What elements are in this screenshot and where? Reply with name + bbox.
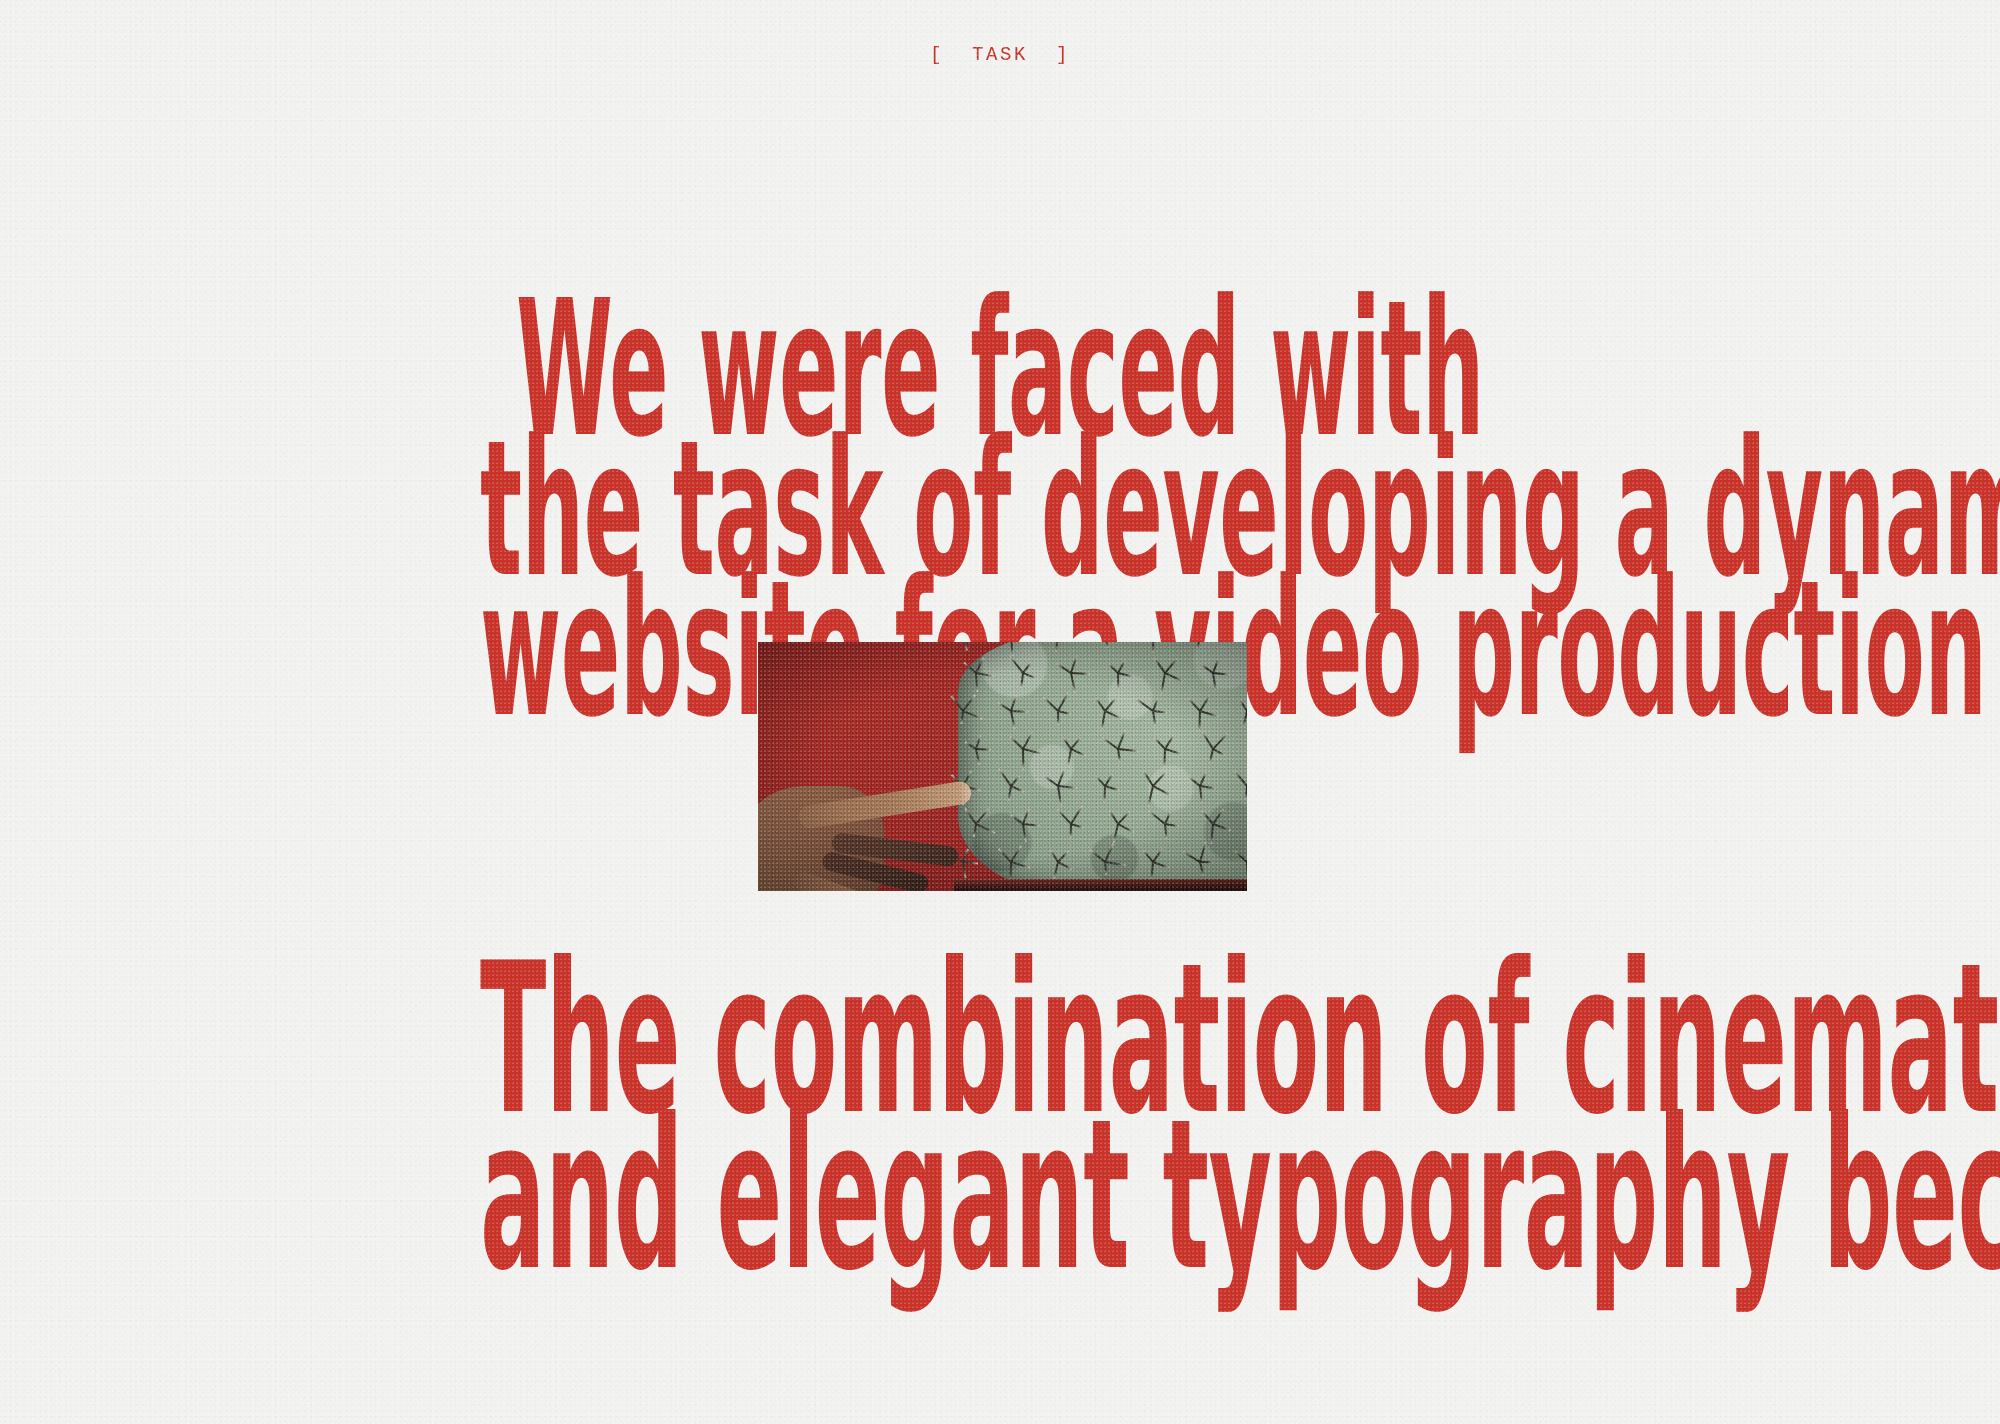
task-section-page: [ TASK ] We were faced with the task of … (0, 0, 2000, 1424)
headline-bottom-line-2: and elegant typography became the main f… (480, 1092, 1520, 1300)
photo-canvas (758, 642, 1247, 891)
section-label: [ TASK ] (0, 44, 2000, 66)
cactus-photo (758, 642, 1247, 891)
task-headline-top: We were faced with the task of developin… (0, 276, 2000, 696)
photo-vignette-overlay (758, 642, 1247, 891)
task-headline-bottom: The combination of cinematic elements, a… (0, 936, 2000, 1248)
